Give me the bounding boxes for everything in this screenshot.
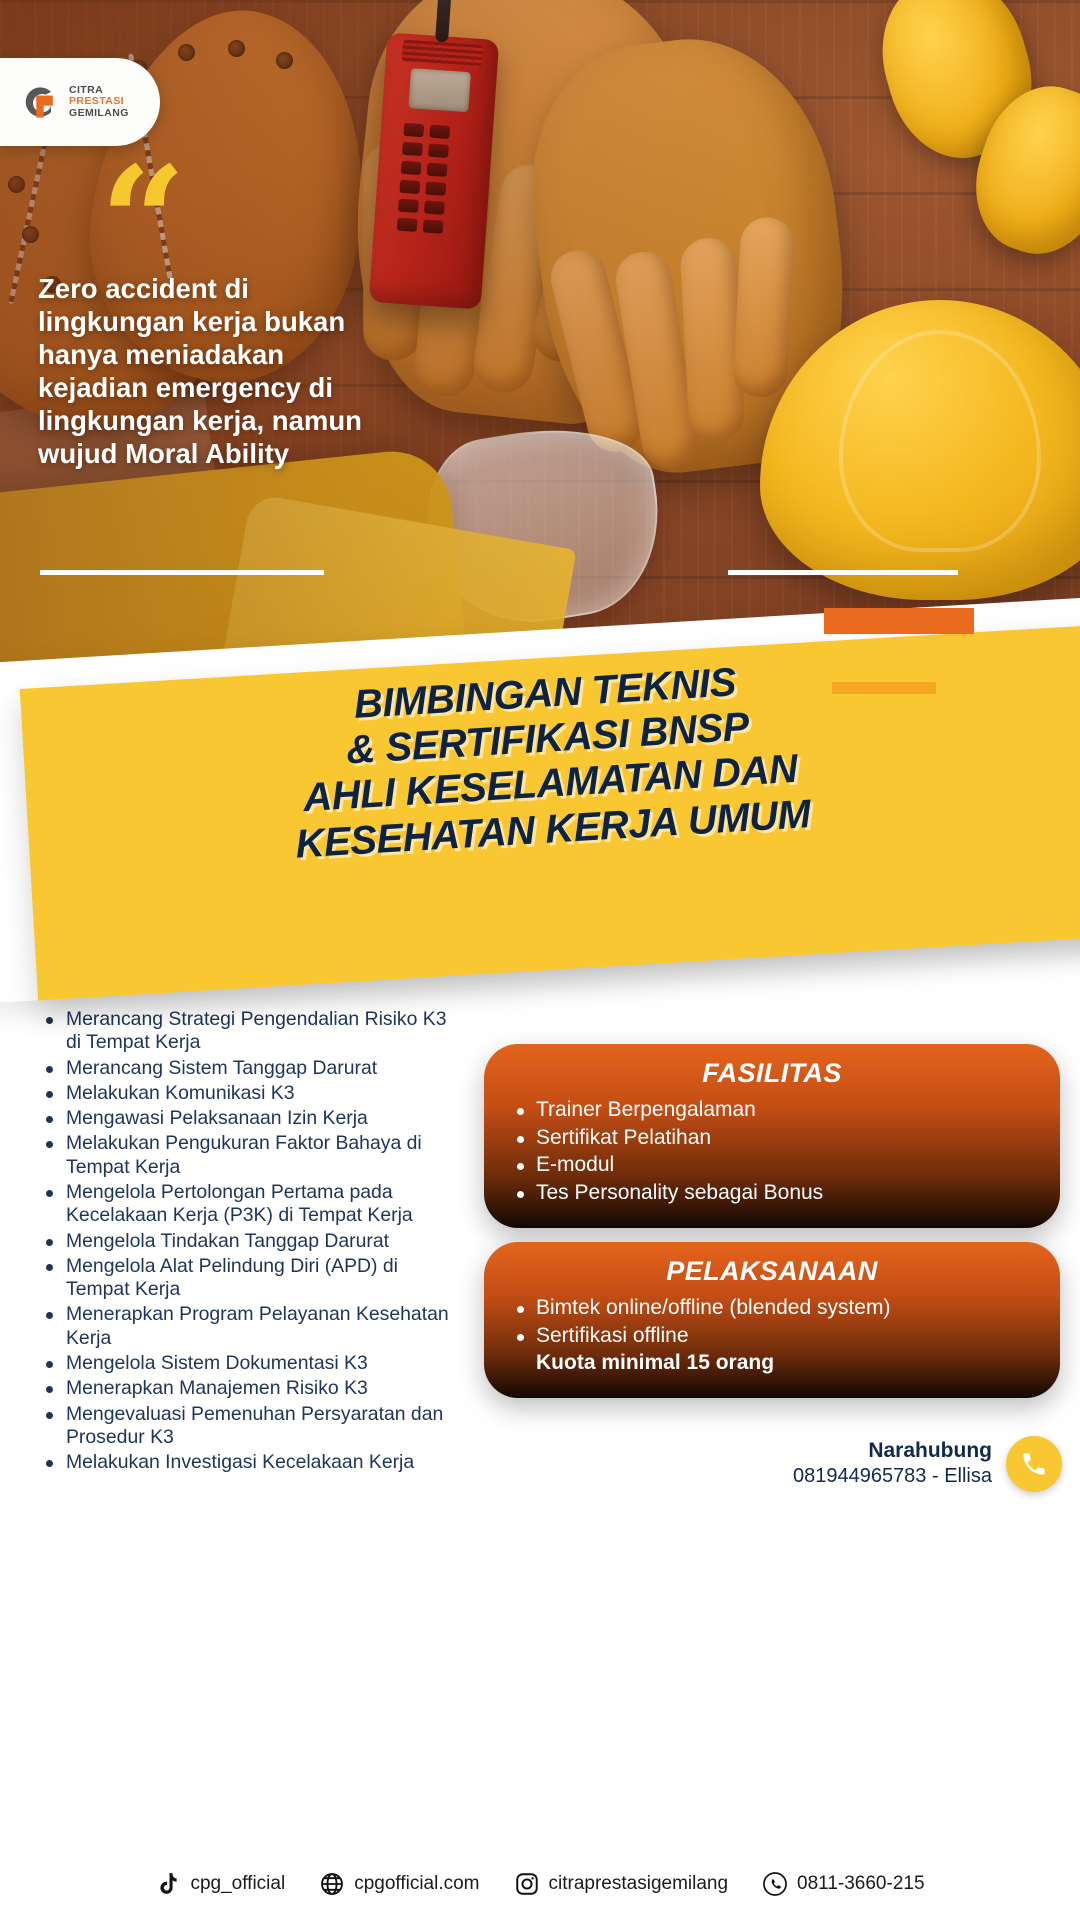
footer-item-instagram[interactable]: citraprestasigemilang	[514, 1871, 729, 1897]
footer-label: cpgofficial.com	[354, 1873, 479, 1895]
phone-icon[interactable]	[1006, 1436, 1062, 1492]
whatsapp-icon	[762, 1871, 788, 1897]
quota-note: Kuota minimal 15 orang	[506, 1350, 1038, 1377]
list-item: Melakukan Komunikasi K3	[36, 1082, 466, 1105]
footer-label: citraprestasigemilang	[549, 1873, 729, 1895]
list-item: Mengelola Alat Pelindung Diri (APD) di T…	[36, 1255, 466, 1302]
instagram-icon	[514, 1871, 540, 1897]
list-item: Menerapkan Manajemen Risiko K3	[36, 1377, 466, 1400]
contact-number: 081944965783 - Ellisa	[793, 1464, 992, 1489]
list-item: Bimtek online/offline (blended system)	[506, 1295, 1038, 1322]
list-item: Mengelola Sistem Dokumentasi K3	[36, 1352, 466, 1375]
brand-logo: CITRA PRESTASI GEMILANG	[0, 58, 160, 146]
pelaksanaan-list: Bimtek online/offline (blended system) S…	[506, 1295, 1038, 1377]
fasilitas-card: FASILITAS Trainer Berpengalaman Sertifik…	[484, 1044, 1060, 1228]
decor-orange-bar	[832, 682, 936, 694]
cpg-logo-icon	[18, 80, 62, 124]
logo-line-3: GEMILANG	[69, 108, 129, 119]
contact-label: Narahubung	[793, 1438, 992, 1464]
list-item: Mengawasi Pelaksanaan Izin Kerja	[36, 1107, 466, 1130]
list-item: Trainer Berpengalaman	[506, 1097, 1038, 1124]
footer-item-whatsapp[interactable]: 0811-3660-215	[762, 1871, 924, 1897]
quote-divider	[40, 570, 324, 575]
contact-block: Narahubung 081944965783 - Ellisa	[793, 1438, 992, 1490]
competency-list: Merancang Strategi Pengendalian Risiko K…	[36, 1008, 466, 1476]
quote-mark-icon: “	[100, 176, 180, 269]
footer-label: 0811-3660-215	[797, 1873, 924, 1895]
decor-orange-block	[824, 608, 974, 634]
list-item: Merancang Sistem Tanggap Darurat	[36, 1057, 466, 1080]
fasilitas-list: Trainer Berpengalaman Sertifikat Pelatih…	[506, 1097, 1038, 1207]
logo-line-2: PRESTASI	[69, 96, 129, 107]
list-item: Mengelola Pertolongan Pertama pada Kecel…	[36, 1181, 466, 1228]
list-item: E-modul	[506, 1152, 1038, 1179]
list-item: Sertifikat Pelatihan	[506, 1125, 1038, 1152]
list-item: Melakukan Investigasi Kecelakaan Kerja	[36, 1451, 466, 1474]
footer-item-website[interactable]: cpgofficial.com	[319, 1871, 479, 1897]
footer-social-bar: cpg_official cpgofficial.com citrapresta…	[0, 1848, 1080, 1920]
hero-quote-text: Zero accident di lingkungan kerja bukan …	[38, 272, 368, 470]
list-item: Merancang Strategi Pengendalian Risiko K…	[36, 1008, 466, 1055]
footer-label: cpg_official	[190, 1873, 285, 1895]
footer-item-tiktok[interactable]: cpg_official	[155, 1871, 285, 1897]
fasilitas-title: FASILITAS	[506, 1058, 1038, 1089]
list-item: Mengevaluasi Pemenuhan Persyaratan dan P…	[36, 1403, 466, 1450]
list-item: Tes Personality sebagai Bonus	[506, 1180, 1038, 1207]
decor-white-rule	[728, 570, 958, 575]
list-item: Melakukan Pengukuran Faktor Bahaya di Te…	[36, 1132, 466, 1179]
tiktok-icon	[155, 1871, 181, 1897]
globe-icon	[319, 1871, 345, 1897]
pelaksanaan-title: PELAKSANAAN	[506, 1256, 1038, 1287]
list-item: Mengelola Tindakan Tanggap Darurat	[36, 1230, 466, 1253]
list-item: Sertifikasi offline	[506, 1323, 1038, 1350]
list-item: Menerapkan Program Pelayanan Kesehatan K…	[36, 1303, 466, 1350]
pelaksanaan-card: PELAKSANAAN Bimtek online/offline (blend…	[484, 1242, 1060, 1398]
